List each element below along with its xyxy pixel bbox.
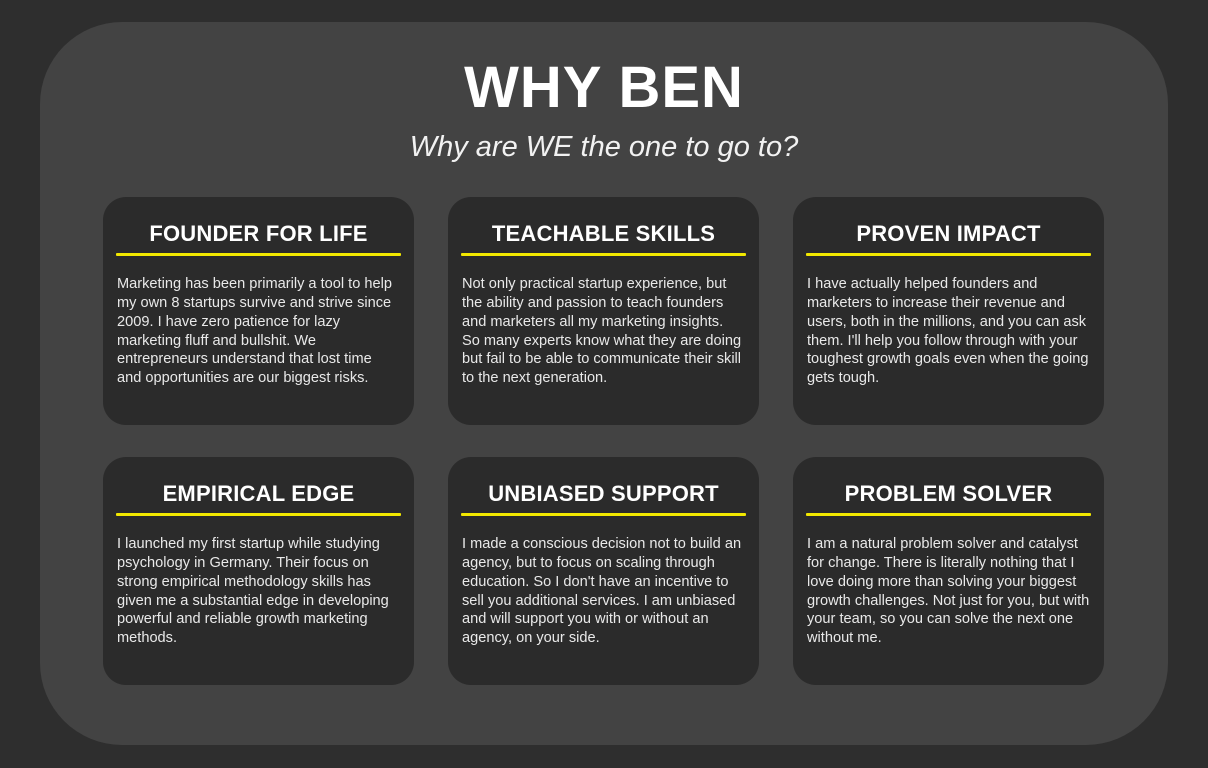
card-content: FOUNDER FOR LIFE Marketing has been prim… [103,197,414,388]
card-body: Marketing has been primarily a tool to h… [116,256,401,388]
card-teachable-skills[interactable]: TEACHABLE SKILLS Not only practical star… [448,197,759,425]
card-content: PROBLEM SOLVER I am a natural problem so… [793,457,1104,648]
card-body: I launched my first startup while studyi… [116,516,401,648]
card-title: EMPIRICAL EDGE [116,481,401,506]
card-empirical-edge[interactable]: EMPIRICAL EDGE I launched my first start… [103,457,414,685]
page-title: WHY BEN [40,22,1168,119]
slide-canvas: WHY BEN Why are WE the one to go to? FOU… [0,0,1208,768]
card-body: I am a natural problem solver and cataly… [806,516,1091,648]
card-title: UNBIASED SUPPORT [461,481,746,506]
slide-header: WHY BEN Why are WE the one to go to? [40,22,1168,165]
card-body: I have actually helped founders and mark… [806,256,1091,388]
card-content: TEACHABLE SKILLS Not only practical star… [448,197,759,388]
card-problem-solver[interactable]: PROBLEM SOLVER I am a natural problem so… [793,457,1104,685]
card-title: PROBLEM SOLVER [806,481,1091,506]
card-title: PROVEN IMPACT [806,221,1091,246]
card-unbiased-support[interactable]: UNBIASED SUPPORT I made a conscious deci… [448,457,759,685]
card-title: FOUNDER FOR LIFE [116,221,401,246]
card-content: EMPIRICAL EDGE I launched my first start… [103,457,414,648]
card-founder-for-life[interactable]: FOUNDER FOR LIFE Marketing has been prim… [103,197,414,425]
card-body: I made a conscious decision not to build… [461,516,746,648]
page-subtitle: Why are WE the one to go to? [40,119,1168,165]
card-grid: FOUNDER FOR LIFE Marketing has been prim… [103,197,1105,685]
card-body: Not only practical startup experience, b… [461,256,746,388]
card-title: TEACHABLE SKILLS [461,221,746,246]
card-content: UNBIASED SUPPORT I made a conscious deci… [448,457,759,648]
content-panel: WHY BEN Why are WE the one to go to? FOU… [40,22,1168,745]
card-content: PROVEN IMPACT I have actually helped fou… [793,197,1104,388]
card-proven-impact[interactable]: PROVEN IMPACT I have actually helped fou… [793,197,1104,425]
